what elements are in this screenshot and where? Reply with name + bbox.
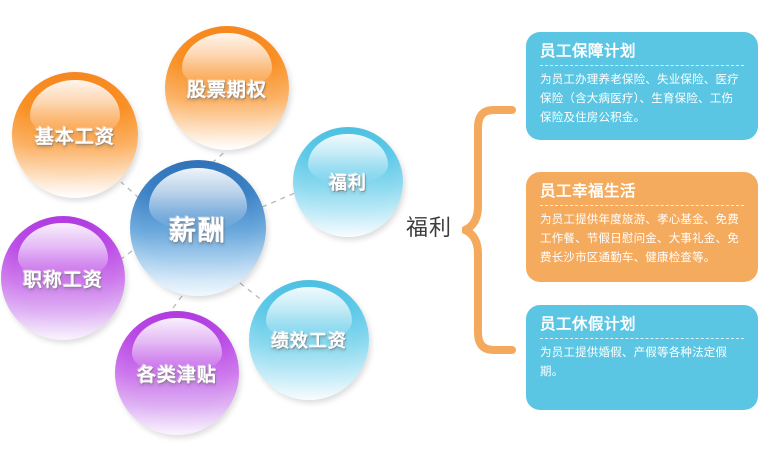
bubble-welfare[interactable]: 福利	[293, 127, 403, 237]
connector-to-base-salary	[121, 182, 139, 198]
connector-to-welfare	[262, 193, 295, 207]
bubble-label-center: 薪酬	[169, 209, 227, 248]
bubble-label-welfare: 福利	[329, 169, 367, 195]
card-divider	[540, 65, 744, 66]
diagram-canvas: 股票期权 基本工资 福利 薪酬 职称工资 绩效工资 各类津贴	[0, 0, 770, 453]
card-employee-vacation-plan[interactable]: 员工休假计划 为员工提供婚假、产假等各种法定假期。	[526, 305, 758, 410]
card-divider	[540, 205, 744, 206]
card-body: 为员工办理养老保险、失业保险、医疗保险（含大病医疗）、生育保险、工伤保险及住房公…	[540, 71, 744, 127]
connector-to-allowances	[170, 296, 182, 312]
card-divider	[540, 338, 744, 339]
brace-label: 福利	[398, 210, 460, 242]
card-employee-security-plan[interactable]: 员工保障计划 为员工办理养老保险、失业保险、医疗保险（含大病医疗）、生育保险、工…	[526, 32, 758, 140]
bubble-base-salary[interactable]: 基本工资	[12, 72, 138, 198]
card-title: 员工保障计划	[540, 42, 744, 61]
card-body: 为员工提供婚假、产假等各种法定假期。	[540, 344, 744, 381]
bubble-label-stock-option: 股票期权	[187, 75, 267, 102]
card-title: 员工幸福生活	[540, 182, 744, 201]
bubble-label-title-salary: 职称工资	[23, 265, 103, 292]
bubble-title-salary[interactable]: 职称工资	[1, 216, 125, 340]
bubble-center-compensation[interactable]: 薪酬	[130, 160, 266, 296]
card-employee-happy-life[interactable]: 员工幸福生活 为员工提供年度旅游、孝心基金、免费工作餐、节假日慰问金、大事礼金、…	[526, 172, 758, 282]
card-body: 为员工提供年度旅游、孝心基金、免费工作餐、节假日慰问金、大事礼金、免费长沙市区通…	[540, 211, 744, 267]
bubble-allowances[interactable]: 各类津贴	[115, 311, 239, 435]
curly-brace-path	[465, 110, 512, 350]
bubble-label-allowances: 各类津贴	[137, 360, 217, 387]
bubble-label-performance-salary: 绩效工资	[271, 327, 347, 353]
curly-brace	[462, 104, 522, 356]
card-title: 员工休假计划	[540, 315, 744, 334]
bubble-stock-option[interactable]: 股票期权	[165, 26, 289, 150]
bubble-performance-salary[interactable]: 绩效工资	[249, 280, 369, 400]
bubble-label-base-salary: 基本工资	[35, 122, 115, 149]
